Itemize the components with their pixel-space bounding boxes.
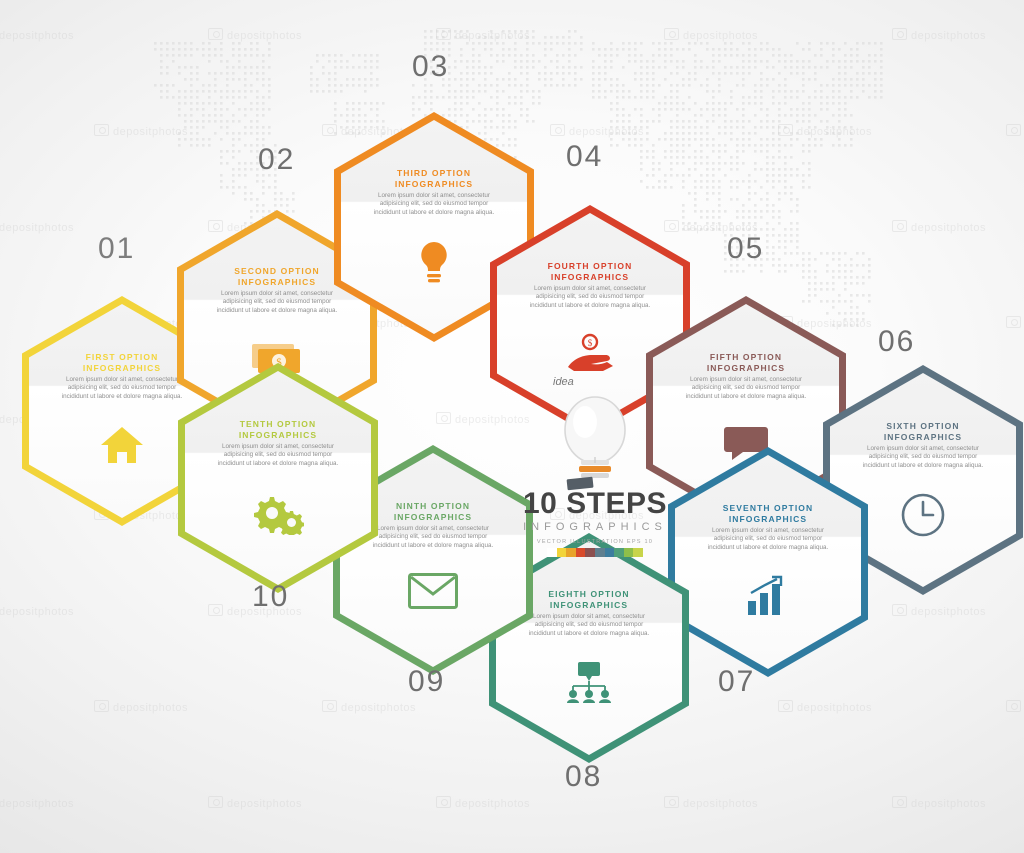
watermark-tile: depositphotos [0, 604, 74, 618]
swatch [633, 548, 643, 557]
step-body: Lorem ipsum dolor sit amet, consectetur … [527, 285, 653, 310]
center-title-block: 10 STEPS INFOGRAPHICS VECTOR ILLUSTRATIO… [505, 488, 685, 557]
swatch [576, 548, 586, 557]
watermark-tile: depositphotos [1006, 700, 1024, 714]
mail-icon [340, 573, 526, 625]
step-title: FIFTH OPTIONINFOGRAPHICS [653, 352, 839, 374]
watermark-tile: depositphotos [208, 796, 302, 810]
step-body: Lorem ipsum dolor sit amet, consectetur … [860, 445, 986, 470]
step-number-05: 05 [727, 232, 764, 266]
step-body: Lorem ipsum dolor sit amet, consectetur … [526, 613, 652, 638]
team-icon [496, 661, 682, 713]
svg-text:$: $ [588, 338, 593, 348]
watermark-tile: depositphotos [778, 700, 872, 714]
step-number-02: 02 [258, 143, 295, 177]
watermark-tile: depositphotos [0, 28, 74, 42]
step-body: Lorem ipsum dolor sit amet, consectetur … [59, 376, 185, 401]
step-title: SIXTH OPTIONINFOGRAPHICS [830, 421, 1016, 443]
watermark-tile: depositphotos [892, 796, 986, 810]
step-number-10: 10 [252, 580, 289, 614]
hexagon-face: SEVENTH OPTIONINFOGRAPHICSLorem ipsum do… [675, 455, 861, 669]
infographic-canvas: depositphotosdepositphotosdepositphotosd… [0, 0, 1024, 853]
step-number-08: 08 [565, 760, 602, 794]
color-swatches [547, 548, 643, 557]
watermark-tile: depositphotos [322, 700, 416, 714]
swatch [557, 548, 567, 557]
step-body: Lorem ipsum dolor sit amet, consectetur … [214, 290, 340, 315]
step-title: TENTH OPTIONINFOGRAPHICS [185, 419, 371, 441]
watermark-tile: depositphotos [436, 796, 530, 810]
watermark-tile: depositphotos [892, 604, 986, 618]
step-number-07: 07 [718, 665, 755, 699]
step-number-01: 01 [98, 232, 135, 266]
watermark-tile: depositphotos [664, 796, 758, 810]
swatch [614, 548, 624, 557]
swatch [605, 548, 615, 557]
step-body: Lorem ipsum dolor sit amet, consectetur … [370, 525, 496, 550]
steps-subtitle: INFOGRAPHICS [505, 521, 685, 533]
step-number-03: 03 [412, 50, 449, 84]
swatch [566, 548, 576, 557]
idea-label: idea [553, 376, 574, 388]
step-body: Lorem ipsum dolor sit amet, consectetur … [683, 376, 809, 401]
watermark-tile: depositphotos [1006, 316, 1024, 330]
gears-icon [185, 491, 371, 543]
step-number-06: 06 [878, 325, 915, 359]
swatch [624, 548, 634, 557]
swatch [585, 548, 595, 557]
watermark-tile: depositphotos [0, 220, 74, 234]
step-title: THIRD OPTIONINFOGRAPHICS [341, 168, 527, 190]
step-body: Lorem ipsum dolor sit amet, consectetur … [215, 443, 341, 468]
chart-icon [675, 575, 861, 627]
watermark-tile: depositphotos [1006, 124, 1024, 138]
step-body: Lorem ipsum dolor sit amet, consectetur … [705, 527, 831, 552]
step-number-04: 04 [566, 140, 603, 174]
steps-title: 10 STEPS [505, 488, 685, 520]
step-body: Lorem ipsum dolor sit amet, consectetur … [371, 192, 497, 217]
swatch [595, 548, 605, 557]
swatch [547, 548, 557, 557]
step-title: FOURTH OPTIONINFOGRAPHICS [497, 261, 683, 283]
watermark-tile: depositphotos [94, 700, 188, 714]
step-title: SEVENTH OPTIONINFOGRAPHICS [675, 503, 861, 525]
hexagon-face: TENTH OPTIONINFOGRAPHICSLorem ipsum dolo… [185, 371, 371, 585]
step-number-09: 09 [408, 665, 445, 699]
steps-caption: VECTOR ILLUSTRATION EPS 10 [505, 539, 685, 545]
watermark-tile: depositphotos [0, 796, 74, 810]
